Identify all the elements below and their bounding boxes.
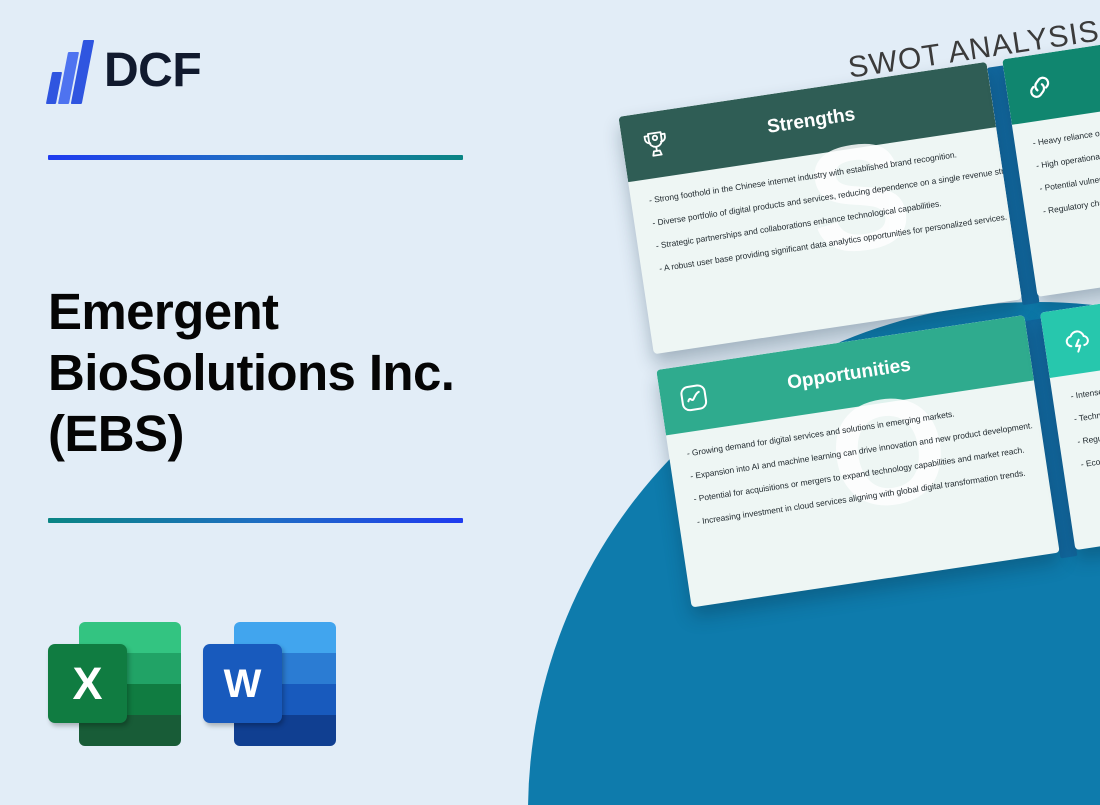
trophy-icon — [637, 125, 676, 164]
swot-card-grid: Strengths S Strong foothold in the Chine… — [618, 5, 1100, 612]
swot-card-opportunities[interactable]: Opportunities O Growing demand for digit… — [656, 315, 1059, 607]
file-format-icons: X W — [48, 622, 336, 746]
swot-card-strengths[interactable]: Strengths S Strong foothold in the Chine… — [618, 62, 1021, 354]
brand-logo[interactable]: DCF — [48, 38, 201, 104]
trend-chart-icon — [674, 378, 713, 417]
card-title: Threats — [1093, 282, 1100, 349]
cover-left-panel: DCF Emergent BioSolutions Inc. (EBS) X W — [0, 0, 560, 805]
excel-letter: X — [48, 644, 127, 723]
word-letter: W — [203, 644, 282, 723]
divider-top — [48, 155, 463, 160]
divider-bottom — [48, 518, 463, 523]
excel-file-icon[interactable]: X — [48, 622, 181, 746]
brand-name: DCF — [104, 47, 201, 95]
cloud-lightning-icon — [1058, 321, 1097, 360]
page-title: Emergent BioSolutions Inc. (EBS) — [48, 282, 518, 464]
chain-link-icon — [1020, 68, 1059, 107]
word-file-icon[interactable]: W — [203, 622, 336, 746]
bar-chart-logo-icon — [48, 38, 92, 104]
